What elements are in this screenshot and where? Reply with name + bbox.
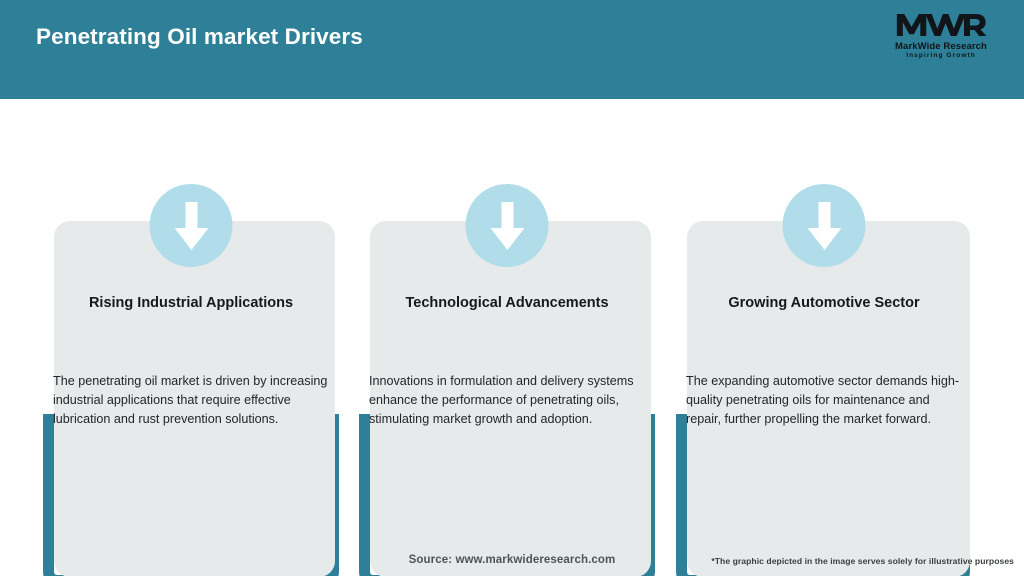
card-body-text: The penetrating oil market is driven by … bbox=[53, 372, 329, 429]
logo-company-name: MarkWide Research bbox=[895, 41, 987, 52]
disclaimer-note: *The graphic depicted in the image serve… bbox=[711, 556, 1014, 566]
card-title: Rising Industrial Applications bbox=[51, 294, 331, 312]
driver-card-3[interactable]: Growing Automotive Sector The expanding … bbox=[676, 144, 972, 542]
driver-card-2[interactable]: Technological Advancements Innovations i… bbox=[359, 144, 655, 542]
mwr-monogram-icon bbox=[895, 10, 987, 40]
drivers-card-row: Rising Industrial Applications The penet… bbox=[0, 99, 1024, 576]
slide-header: Penetrating Oil market Drivers MarkWide … bbox=[0, 0, 1024, 99]
logo-tagline: Inspiring Growth bbox=[906, 52, 976, 59]
card-body-text: Innovations in formulation and delivery … bbox=[369, 372, 645, 429]
card-body-text: The expanding automotive sector demands … bbox=[686, 372, 962, 429]
brand-logo: MarkWide Research Inspiring Growth bbox=[880, 10, 1002, 66]
arrow-down-icon bbox=[783, 184, 866, 267]
arrow-down-icon bbox=[150, 184, 233, 267]
driver-card-1[interactable]: Rising Industrial Applications The penet… bbox=[43, 144, 339, 542]
page-title: Penetrating Oil market Drivers bbox=[36, 24, 363, 50]
card-title: Growing Automotive Sector bbox=[684, 294, 964, 312]
card-title: Technological Advancements bbox=[367, 294, 647, 312]
arrow-down-icon bbox=[466, 184, 549, 267]
slide-root: Penetrating Oil market Drivers MarkWide … bbox=[0, 0, 1024, 576]
